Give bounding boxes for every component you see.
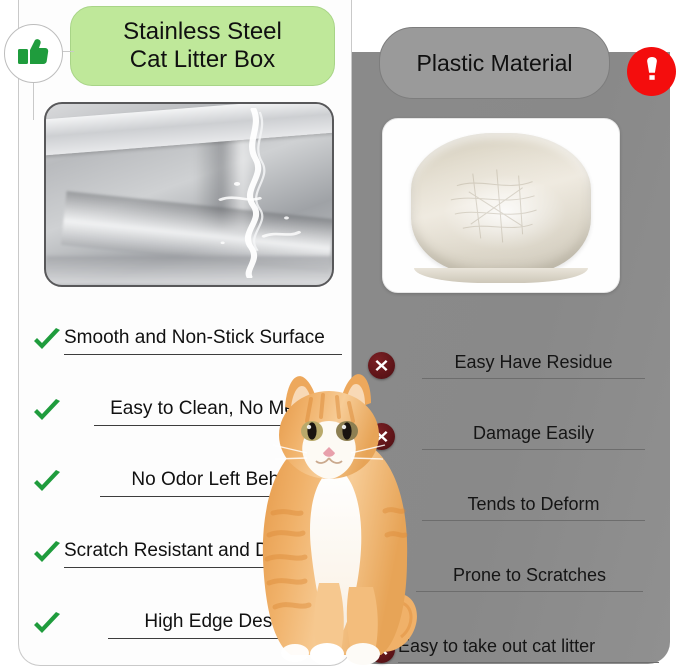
list-item: Smooth and Non-Stick Surface xyxy=(30,305,342,376)
comparison-infographic: Stainless Steel Cat Litter Box Plastic M… xyxy=(0,0,679,671)
list-item-rule xyxy=(416,591,643,592)
green-check-icon xyxy=(30,470,64,496)
list-item: High Edge Design xyxy=(30,589,342,660)
stainless-steel-title-line1: Stainless Steel xyxy=(123,18,282,46)
stainless-steel-feature-list: Smooth and Non-Stick Surface Easy to Cle… xyxy=(30,305,342,660)
stainless-steel-photo xyxy=(44,102,334,287)
list-item: Damage Easily xyxy=(364,401,659,472)
dark-red-x-icon xyxy=(364,494,398,521)
dark-red-x-icon xyxy=(364,423,398,450)
list-item-label: Easy Have Residue xyxy=(422,352,645,378)
green-check-icon xyxy=(30,328,64,354)
dark-red-x-icon xyxy=(364,565,398,592)
list-item: No Odor Left Behind xyxy=(30,447,342,518)
dark-red-x-icon xyxy=(364,352,398,379)
list-item-label: Smooth and Non-Stick Surface xyxy=(64,327,342,354)
alert-badge xyxy=(627,47,676,96)
list-item: Prone to Scratches xyxy=(364,543,659,614)
plastic-material-title: Plastic Material xyxy=(379,27,610,99)
plastic-material-feature-list: Easy Have Residue Damage Easily xyxy=(364,330,659,671)
stainless-steel-title-line2: Cat Litter Box xyxy=(123,46,282,74)
list-item-rule xyxy=(398,662,659,663)
green-check-icon xyxy=(30,612,64,638)
list-item: Scratch Resistant and Durable xyxy=(30,518,342,589)
thumbs-up-badge xyxy=(4,24,63,83)
list-item-label: Scratch Resistant and Durable xyxy=(64,540,342,567)
list-item-rule xyxy=(108,638,334,639)
list-item-rule xyxy=(94,425,330,426)
red-alert-exclamation-icon xyxy=(640,54,664,89)
list-item-label: No Odor Left Behind xyxy=(100,469,336,496)
green-check-icon xyxy=(30,541,64,567)
list-item: Easy to Clean, No Mess xyxy=(30,376,342,447)
thumbs-up-icon xyxy=(15,32,53,75)
list-item-rule xyxy=(64,354,342,355)
plastic-material-title-text: Plastic Material xyxy=(417,50,573,77)
list-item-rule xyxy=(422,378,645,379)
plastic-litter-box-photo xyxy=(382,118,620,293)
list-item-label: Damage Easily xyxy=(422,423,645,449)
list-item-label: Tends to Deform xyxy=(422,494,645,520)
list-item-label: Prone to Scratches xyxy=(416,565,643,591)
list-item: Easy Have Residue xyxy=(364,330,659,401)
list-item-rule xyxy=(422,449,645,450)
green-check-icon xyxy=(30,399,64,425)
list-item-rule xyxy=(64,567,342,568)
list-item-label: High Edge Design xyxy=(108,611,334,638)
list-item-rule xyxy=(422,520,645,521)
list-item: Tends to Deform xyxy=(364,472,659,543)
list-item-label: Easy to take out cat litter xyxy=(398,636,659,662)
badge-connector-vertical xyxy=(33,82,34,120)
list-item-rule xyxy=(100,496,336,497)
dark-red-x-icon xyxy=(364,636,398,663)
list-item-label: Easy to Clean, No Mess xyxy=(94,398,330,425)
stainless-steel-title: Stainless Steel Cat Litter Box xyxy=(70,6,335,86)
list-item: Easy to take out cat litter xyxy=(364,614,659,671)
